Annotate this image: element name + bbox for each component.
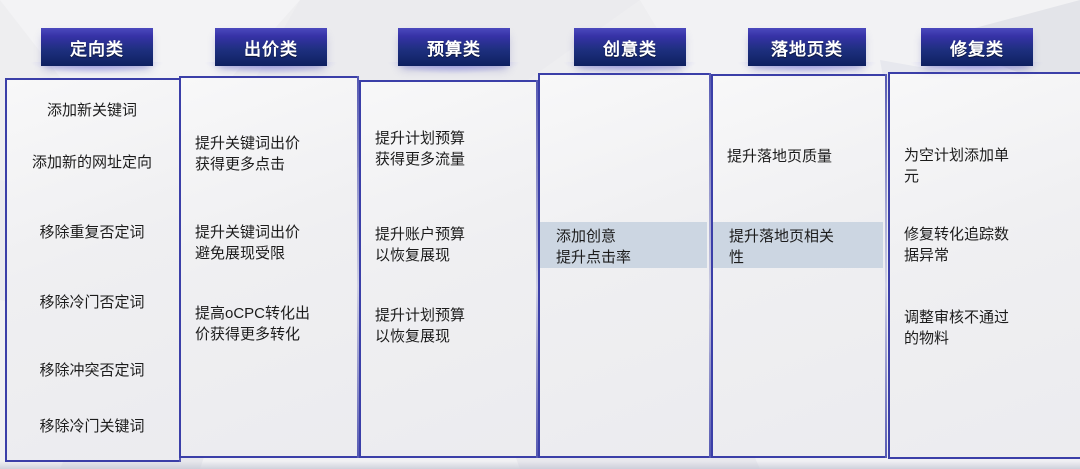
list-item[interactable]: 添加新关键词 <box>11 100 173 121</box>
column-header-budget[interactable]: 预算类 <box>398 28 510 66</box>
list-item[interactable]: 添加创意 提升点击率 <box>540 222 707 268</box>
list-item[interactable]: 提升计划预算 获得更多流量 <box>375 128 528 170</box>
list-item[interactable]: 移除重复否定词 <box>11 222 173 243</box>
list-item[interactable]: 移除冲突否定词 <box>11 360 173 381</box>
list-item[interactable]: 提升计划预算 以恢复展现 <box>375 305 528 347</box>
list-item[interactable]: 提升落地页质量 <box>727 146 877 167</box>
list-item[interactable]: 提升关键词出价 获得更多点击 <box>195 133 349 175</box>
column-header-bidding[interactable]: 出价类 <box>215 28 327 66</box>
column-header-targeting[interactable]: 定向类 <box>41 28 153 66</box>
list-item[interactable]: 提升账户预算 以恢复展现 <box>375 224 528 266</box>
column-header-landing-page[interactable]: 落地页类 <box>748 28 866 66</box>
list-item[interactable]: 修复转化追踪数 据异常 <box>904 224 1076 266</box>
column-header-repair[interactable]: 修复类 <box>921 28 1033 66</box>
list-item[interactable]: 为空计划添加单 元 <box>904 145 1076 187</box>
category-board: 定向类添加新关键词添加新的网址定向移除重复否定词移除冷门否定词移除冲突否定词移除… <box>0 0 1080 469</box>
list-item[interactable]: 提升落地页相关 性 <box>713 222 883 268</box>
column-card-targeting <box>5 78 179 462</box>
list-item[interactable]: 添加新的网址定向 <box>11 152 173 173</box>
list-item[interactable]: 提升关键词出价 避免展现受限 <box>195 222 349 264</box>
list-item[interactable]: 移除冷门否定词 <box>11 292 173 313</box>
column-card-inner-targeting <box>7 80 179 460</box>
list-item[interactable]: 提高oCPC转化出 价获得更多转化 <box>195 303 349 345</box>
list-item[interactable]: 移除冷门关键词 <box>11 416 173 437</box>
list-item[interactable]: 调整审核不通过 的物料 <box>904 307 1076 349</box>
column-header-creative[interactable]: 创意类 <box>574 28 686 66</box>
